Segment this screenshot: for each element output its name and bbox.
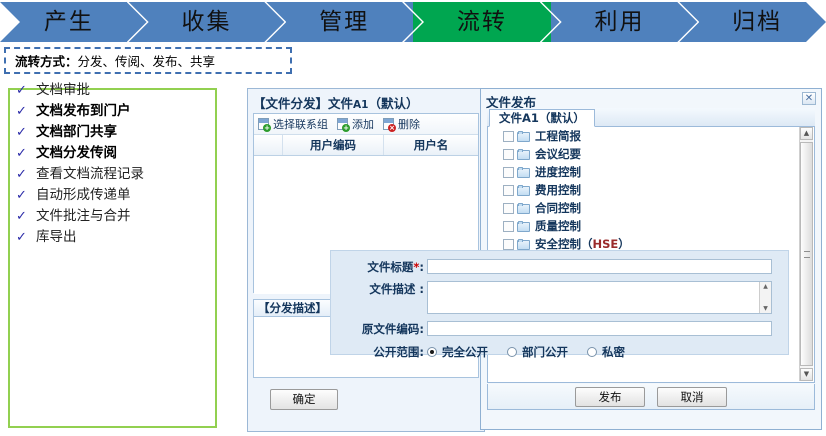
- scope-radio-3[interactable]: 私密: [587, 344, 625, 360]
- folder-icon: [517, 131, 530, 142]
- flow-step-label: 流转: [457, 11, 507, 34]
- form-row-description: 文件描述 : ▲ ▼: [331, 281, 788, 314]
- feature-label: 文档部门共享: [36, 120, 117, 140]
- col-select: [254, 135, 283, 155]
- check-icon: ✓: [16, 210, 36, 223]
- feature-item: ✓文档发布到门户: [16, 99, 144, 119]
- distribution-toolbar: +选择联系组+添加×删除: [254, 114, 478, 135]
- publish-form-dialog: 文件标题*: 文件描述 : ▲ ▼ 原文件编码: 公开范围: 完全公开部门公开私…: [330, 250, 789, 355]
- confirm-button[interactable]: 确定: [270, 389, 338, 410]
- radio-icon[interactable]: [507, 347, 517, 357]
- form-row-title: 文件标题*:: [331, 259, 788, 275]
- scroll-up-icon[interactable]: ▲: [800, 127, 813, 140]
- flow-step-5[interactable]: 利用: [551, 2, 689, 42]
- feature-item: ✓文档分发传阅: [16, 141, 144, 161]
- scope-radio-group[interactable]: 完全公开部门公开私密: [427, 344, 644, 360]
- flow-method-key: 流转方式：: [15, 51, 78, 70]
- feature-item: ✓文件批注与合并: [16, 204, 144, 224]
- toolbar-button-label: 添加: [352, 116, 374, 132]
- orig-file-code-label: 原文件编码:: [331, 321, 427, 337]
- check-icon: ✓: [16, 168, 36, 181]
- scope-radio-2[interactable]: 部门公开: [507, 344, 568, 360]
- add-icon: +: [336, 118, 350, 131]
- radio-icon[interactable]: [587, 347, 597, 357]
- tree-item[interactable]: 会议纪要: [488, 145, 814, 163]
- check-icon: ✓: [16, 147, 36, 160]
- tree-item-label: 质量控制: [535, 218, 581, 234]
- folder-icon: [517, 239, 530, 250]
- flow-step-6[interactable]: 归档: [688, 2, 826, 42]
- folder-icon: [517, 185, 530, 196]
- tree-item[interactable]: 工程简报: [488, 127, 814, 145]
- feature-item: ✓查看文档流程记录: [16, 162, 144, 182]
- distribution-title-suffix: （默认）: [368, 96, 418, 111]
- tree-checkbox[interactable]: [503, 185, 514, 196]
- distribution-title: 【文件分发】文件A1（默认）: [253, 93, 418, 112]
- feature-item: ✓自动形成传递单: [16, 183, 144, 203]
- tree-checkbox[interactable]: [503, 149, 514, 160]
- distribution-title-code: A1: [353, 99, 368, 111]
- tree-item[interactable]: 费用控制: [488, 181, 814, 199]
- close-icon[interactable]: ✕: [802, 92, 816, 105]
- tab-file-a1[interactable]: 文件A1（默认）: [489, 109, 595, 127]
- toolbar-button-label: 选择联系组: [273, 116, 328, 132]
- feature-label: 文档发布到门户: [36, 99, 131, 119]
- tree-item-label: 合同控制: [535, 200, 581, 216]
- folder-icon: [517, 221, 530, 232]
- distribution-table-header: 用户编码 用户名: [254, 135, 478, 156]
- tree-item-label: 费用控制: [535, 182, 581, 198]
- delete-icon: ×: [382, 118, 396, 131]
- scope-radio-label: 完全公开: [442, 344, 488, 360]
- file-title-label: 文件标题*:: [331, 259, 427, 275]
- publish-footer: 发布取消: [487, 384, 815, 410]
- publish-tab-bar: 文件A1（默认）: [487, 108, 815, 127]
- feature-item: ✓文档审批: [16, 78, 144, 98]
- cancel-button[interactable]: 取消: [657, 387, 727, 407]
- tree-item-label: 工程简报: [535, 128, 581, 144]
- form-row-scope: 公开范围: 完全公开部门公开私密: [331, 344, 788, 360]
- file-title-input[interactable]: [427, 259, 772, 274]
- flow-step-3[interactable]: 管理: [275, 2, 413, 42]
- desc-scroll-up-icon[interactable]: ▲: [760, 283, 771, 290]
- publish-tree-scrollbar[interactable]: ▲ ▼: [799, 127, 813, 381]
- check-icon: ✓: [16, 105, 36, 118]
- add-contact-group-button[interactable]: +选择联系组: [257, 116, 328, 132]
- check-icon: ✓: [16, 189, 36, 202]
- folder-icon: [517, 149, 530, 160]
- flow-step-1[interactable]: 产生: [0, 2, 138, 42]
- check-icon: ✓: [16, 126, 36, 139]
- check-icon: ✓: [16, 84, 36, 97]
- delete-button[interactable]: ×删除: [382, 116, 420, 132]
- flow-step-label: 产生: [44, 11, 94, 34]
- distribution-title-prefix: 【文件分发】文件: [253, 96, 353, 111]
- feature-label: 文档审批: [36, 78, 90, 98]
- col-user-name: 用户名: [384, 135, 478, 155]
- feature-list: ✓文档审批✓文档发布到门户✓文档部门共享✓文档分发传阅✓查看文档流程记录✓自动形…: [16, 78, 144, 246]
- tree-item-label: 进度控制: [535, 164, 581, 180]
- orig-file-code-label-text: 原文件编码: [362, 322, 420, 336]
- tree-checkbox[interactable]: [503, 221, 514, 232]
- orig-file-code-input[interactable]: [427, 321, 772, 336]
- scope-label: 公开范围:: [331, 344, 427, 360]
- tree-checkbox[interactable]: [503, 239, 514, 250]
- add-button[interactable]: +添加: [336, 116, 374, 132]
- feature-label: 库导出: [36, 225, 77, 245]
- feature-label: 文档分发传阅: [36, 141, 117, 161]
- scope-radio-label: 私密: [602, 344, 625, 360]
- col-user-code: 用户编码: [283, 135, 384, 155]
- tree-item[interactable]: 进度控制: [488, 163, 814, 181]
- folder-icon: [517, 167, 530, 178]
- scroll-down-icon[interactable]: ▼: [800, 368, 813, 381]
- flow-step-label: 利用: [594, 11, 644, 34]
- tree-checkbox[interactable]: [503, 167, 514, 178]
- file-description-label: 文件描述 :: [331, 281, 427, 297]
- flow-method-note: 流转方式： 分发、传阅、发布、共享: [4, 47, 292, 74]
- radio-icon[interactable]: [427, 347, 437, 357]
- process-flow-banner: 产生收集管理流转利用归档: [0, 2, 826, 42]
- required-marker: *: [413, 260, 419, 274]
- file-description-textarea[interactable]: ▲ ▼: [427, 281, 772, 314]
- tree-item[interactable]: 合同控制: [488, 199, 814, 217]
- scope-radio-1[interactable]: 完全公开: [427, 344, 488, 360]
- feature-label: 查看文档流程记录: [36, 162, 144, 182]
- file-title-label-text: 文件标题: [367, 260, 413, 274]
- flow-step-label: 收集: [181, 11, 231, 34]
- toolbar-button-label: 删除: [398, 116, 420, 132]
- folder-icon: [517, 203, 530, 214]
- description-scrollbar[interactable]: ▲ ▼: [759, 282, 771, 313]
- desc-scroll-down-icon[interactable]: ▼: [760, 305, 771, 312]
- feature-item: ✓库导出: [16, 225, 144, 245]
- add-contact-group-icon: +: [257, 118, 271, 131]
- scope-radio-label: 部门公开: [522, 344, 568, 360]
- flow-step-label: 归档: [732, 11, 782, 34]
- scrollbar-thumb[interactable]: [800, 142, 813, 366]
- tree-checkbox[interactable]: [503, 131, 514, 142]
- tree-checkbox[interactable]: [503, 203, 514, 214]
- feature-label: 自动形成传递单: [36, 183, 131, 203]
- flow-step-label: 管理: [319, 11, 369, 34]
- form-row-orig-code: 原文件编码:: [331, 321, 788, 337]
- flow-method-value: 分发、传阅、发布、共享: [78, 51, 216, 70]
- tree-item-label: 会议纪要: [535, 146, 581, 162]
- publish-button[interactable]: 发布: [575, 387, 645, 407]
- flow-step-2[interactable]: 收集: [138, 2, 276, 42]
- file-description-label-text: 文件描述: [369, 282, 415, 296]
- feature-item: ✓文档部门共享: [16, 120, 144, 140]
- flow-step-4[interactable]: 流转: [413, 2, 551, 42]
- feature-label: 文件批注与合并: [36, 204, 131, 224]
- check-icon: ✓: [16, 231, 36, 244]
- tree-item[interactable]: 质量控制: [488, 217, 814, 235]
